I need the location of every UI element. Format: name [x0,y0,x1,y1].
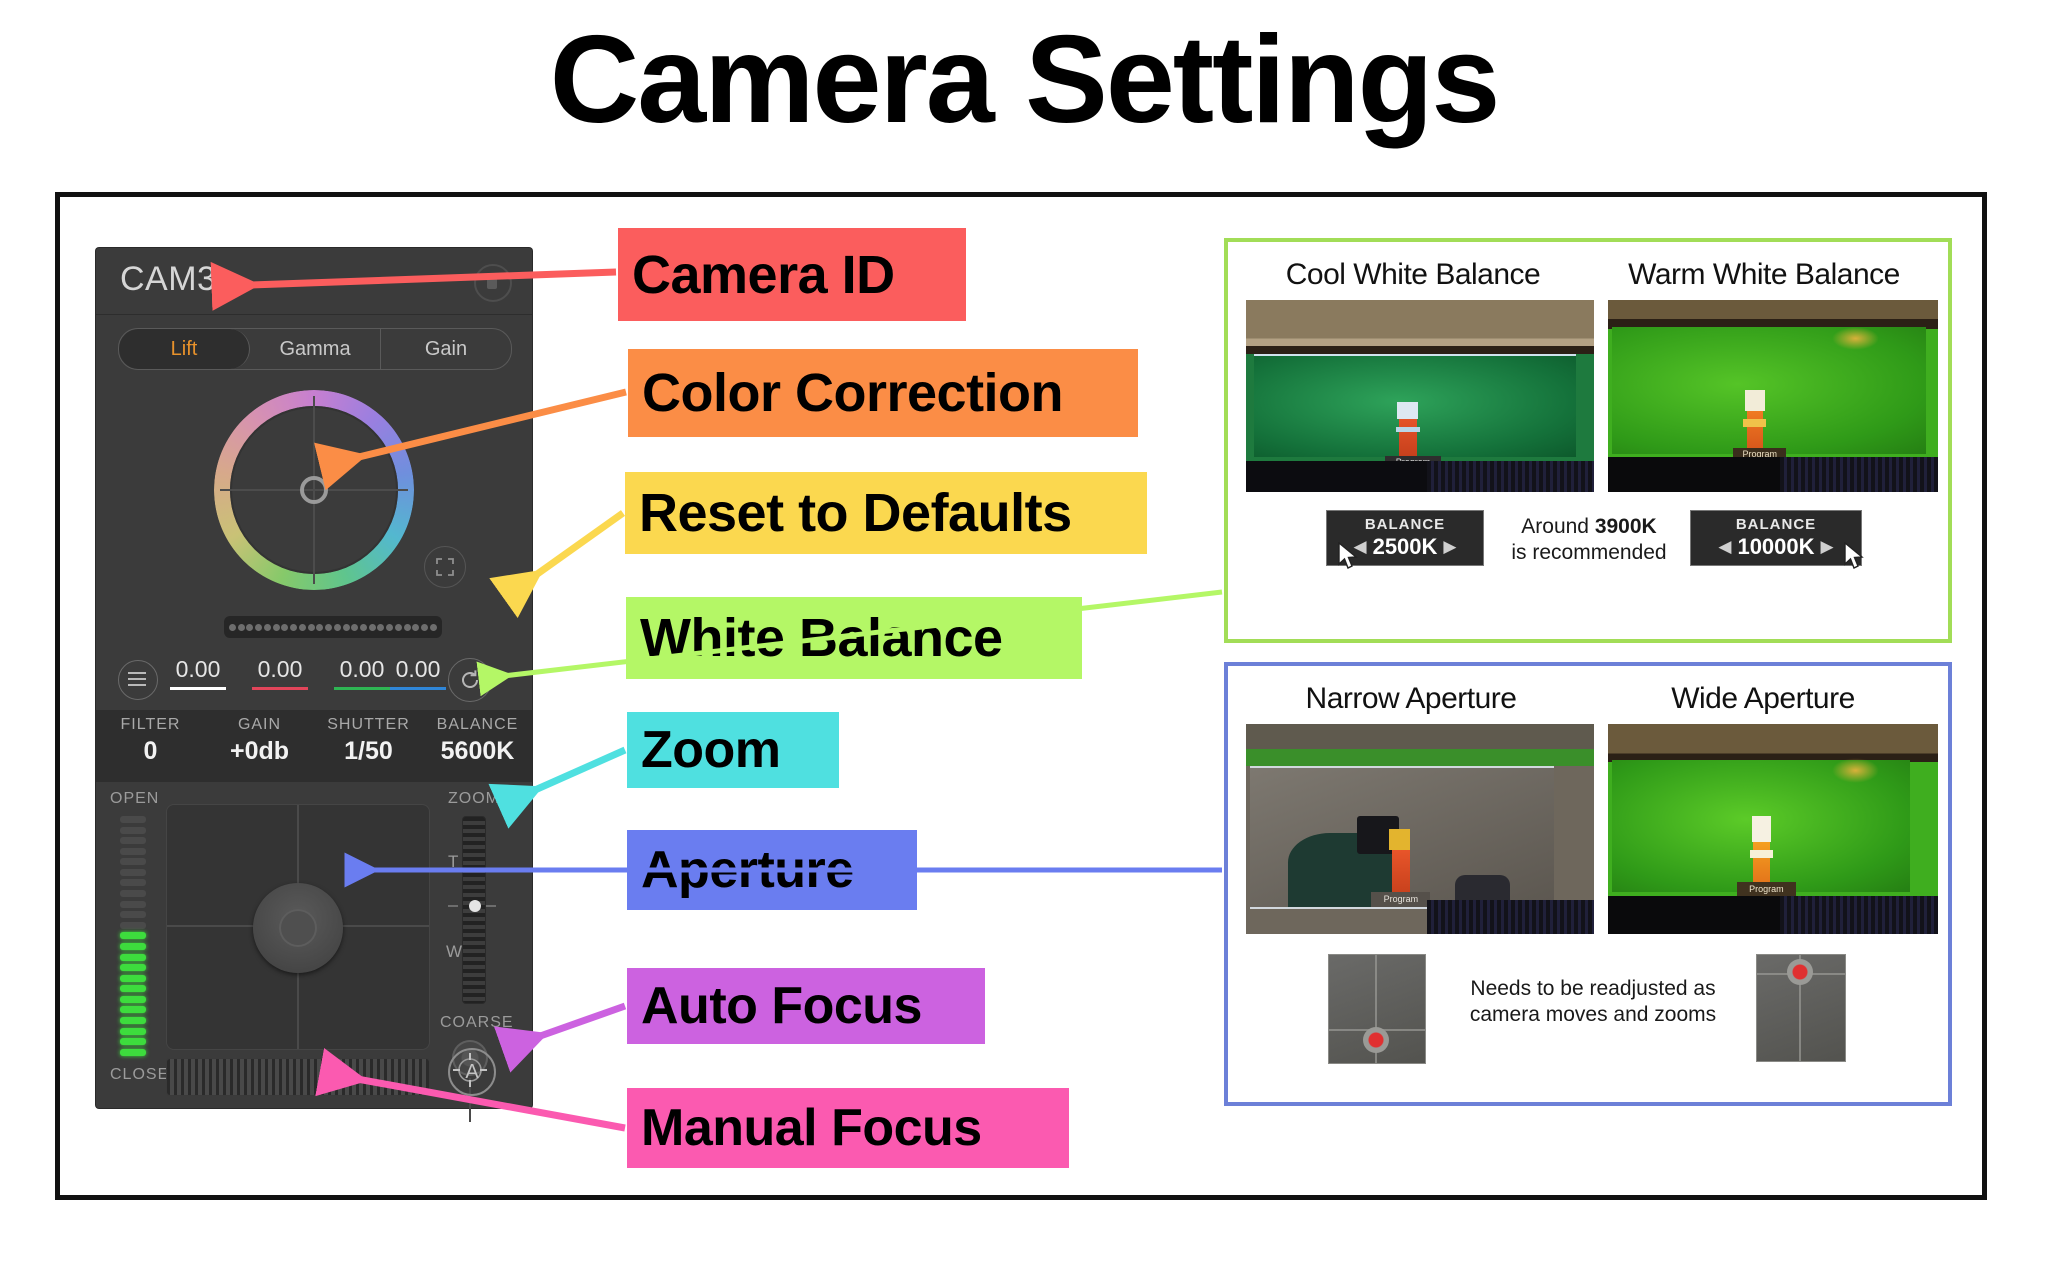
slider-dot [334,624,341,631]
zoom-tick-right [486,905,496,907]
iris-led-segment [120,985,146,992]
camera-panel-header: CAM3 [96,248,532,315]
white-balance-comparison-panel: Cool White Balance Warm White Balance Pr… [1224,238,1952,643]
slider-dot [351,624,358,631]
status-shutter-value: 1/50 [314,737,423,766]
iris-led-segment [120,954,146,961]
value-red-text: 0.00 [244,656,316,683]
iris-led-segment [120,827,146,834]
ap-note-line1: Needs to be readjusted as [1438,976,1748,1002]
iris-open-label: OPEN [110,790,159,808]
status-gain-value: +0db [205,737,314,766]
balance-decrease-icon[interactable]: ◀ [1718,537,1731,557]
wide-aperture-photo: Program [1608,724,1938,934]
camera-status-strip: FILTER 0 GAIN +0db SHUTTER 1/50 BALANCE … [96,710,532,782]
value-blue-text: 0.00 [382,656,454,683]
iris-led-segment [120,879,146,886]
zoom-slider-knob[interactable] [469,900,481,912]
tab-lift[interactable]: Lift [119,329,250,369]
camera-menu-icon[interactable] [474,264,512,302]
annotation-zoom: Zoom [627,712,839,788]
balance-chip-warm-label: BALANCE [1736,516,1816,533]
camera-control-panel: CAM3 Lift Gamma Gain 0.00 [96,248,532,1108]
value-blue[interactable]: 0.00 [382,656,454,690]
iris-led-segment [120,848,146,855]
status-balance-label: BALANCE [423,716,532,734]
slider-dot [255,624,262,631]
slider-dot [412,624,419,631]
slider-dot [325,624,332,631]
iris-led-segment [120,816,146,823]
iris-led-segment [120,932,146,939]
iris-led-segment [120,943,146,950]
iris-led-segment [120,1049,146,1056]
iris-led-segment [120,1017,146,1024]
annotation-camera-id: Camera ID [618,228,966,321]
slider-dot [264,624,271,631]
balance-increase-icon[interactable]: ▶ [1821,537,1834,557]
camera-id-label[interactable]: CAM3 [120,260,216,299]
mouse-cursor-icon [1844,542,1866,572]
slider-dot [369,624,376,631]
page-title: Camera Settings [0,18,2048,142]
slider-dot [377,624,384,631]
iris-led-segment [120,1038,146,1045]
iris-led-segment [120,869,146,876]
iris-led-segment [120,1028,146,1035]
iris-close-label: CLOSE [110,1066,169,1084]
focus-pad-wide [1756,954,1846,1062]
iris-led-segment [120,911,146,918]
status-filter-value: 0 [96,737,205,766]
slider-dot [386,624,393,631]
value-master-bar [170,687,226,690]
color-correction-tabs[interactable]: Lift Gamma Gain [118,328,512,370]
slider-dot [299,624,306,631]
status-shutter[interactable]: SHUTTER 1/50 [314,716,423,766]
annotation-manual-focus: Manual Focus [627,1088,1069,1168]
wide-aperture-title: Wide Aperture [1598,682,1928,716]
wb-note-line1: Around 3900K [1486,514,1692,540]
slider-dot [229,624,236,631]
balance-chip-cool-label: BALANCE [1365,516,1445,533]
iris-led-segment [120,901,146,908]
narrow-aperture-title: Narrow Aperture [1252,682,1570,716]
hamburger-icon[interactable] [118,660,158,700]
annotation-color-correction: Color Correction [628,349,1138,437]
warm-white-balance-title: Warm White Balance [1594,258,1934,292]
iris-led-segment [120,837,146,844]
iris-led-segment [120,996,146,1003]
manual-focus-wheel[interactable] [166,1058,430,1096]
aperture-comparison-panel: Narrow Aperture Wide Aperture Program Pr… [1224,662,1952,1106]
value-red[interactable]: 0.00 [244,656,316,690]
color-values-row: 0.00 0.00 0.00 0.00 [96,652,532,708]
iris-led-segment [120,922,146,929]
annotation-white-balance: White Balance [626,597,1082,679]
color-wheel[interactable] [214,390,414,590]
value-master-text: 0.00 [162,656,234,683]
slider-dot [404,624,411,631]
camera-lower-controls: OPEN CLOSE ZOOM T W COARS [96,782,532,1108]
iris-led-segment [120,975,146,982]
iris-led-segment [120,858,146,865]
slider-dot [308,624,315,631]
wb-note-line2: is recommended [1486,540,1692,566]
coarse-label: COARSE [440,1014,514,1032]
auto-focus-button[interactable]: A [448,1048,496,1096]
narrow-aperture-photo: Program [1246,724,1594,934]
slider-dot [360,624,367,631]
slider-dot [343,624,350,631]
slider-dot [430,624,437,631]
cool-white-balance-title: Cool White Balance [1248,258,1578,292]
zoom-tick-left [448,905,458,907]
color-wheel-handle[interactable] [300,476,328,504]
pan-tilt-pad[interactable] [166,804,430,1050]
slider-dot [290,624,297,631]
status-filter[interactable]: FILTER 0 [96,716,205,766]
expand-icon[interactable] [424,546,466,588]
cool-white-balance-photo: Program [1246,300,1594,492]
value-red-bar [252,687,308,690]
annotation-auto-focus: Auto Focus [627,968,985,1044]
slider-dot [395,624,402,631]
status-gain[interactable]: GAIN +0db [205,716,314,766]
annotation-aperture: Aperture [627,830,917,910]
aperture-joystick[interactable] [253,883,343,973]
value-master[interactable]: 0.00 [162,656,234,690]
zoom-wide-label: W [446,942,462,962]
status-shutter-label: SHUTTER [314,716,423,734]
tab-gain[interactable]: Gain [381,329,511,369]
slider-dot [421,624,428,631]
balance-increase-icon[interactable]: ▶ [1443,537,1456,557]
status-gain-label: GAIN [205,716,314,734]
tab-gamma[interactable]: Gamma [250,329,381,369]
iris-led-segment [120,1006,146,1013]
auto-focus-label: A [465,1061,478,1084]
reset-icon[interactable] [448,658,492,702]
slider-dot [273,624,280,631]
status-balance[interactable]: BALANCE 5600K [423,716,532,766]
zoom-label: ZOOM [448,790,500,808]
slider-dot [281,624,288,631]
status-filter-label: FILTER [96,716,205,734]
slider-dot [246,624,253,631]
slider-dot [316,624,323,631]
white-balance-recommendation: Around 3900K is recommended [1486,514,1692,567]
balance-chip-warm[interactable]: BALANCE ◀ 10000K ▶ [1690,510,1862,566]
focus-pad-narrow [1328,954,1426,1064]
aperture-readjust-note: Needs to be readjusted as camera moves a… [1438,976,1748,1029]
status-balance-value: 5600K [423,737,532,766]
iris-led-segment [120,890,146,897]
ap-note-line2: camera moves and zooms [1438,1002,1748,1028]
slider-dot [238,624,245,631]
annotation-reset-to-defaults: Reset to Defaults [625,472,1147,554]
warm-white-balance-photo: Program [1608,300,1938,492]
balance-chip-cool-value: 2500K [1373,534,1438,560]
iris-level-meter [120,816,146,1056]
color-wheel-slider[interactable] [224,616,442,638]
value-blue-bar [390,687,446,690]
balance-chip-warm-value: 10000K [1737,534,1814,560]
zoom-tele-label: T [448,852,458,872]
mouse-cursor-icon [1338,542,1360,572]
iris-led-segment [120,964,146,971]
